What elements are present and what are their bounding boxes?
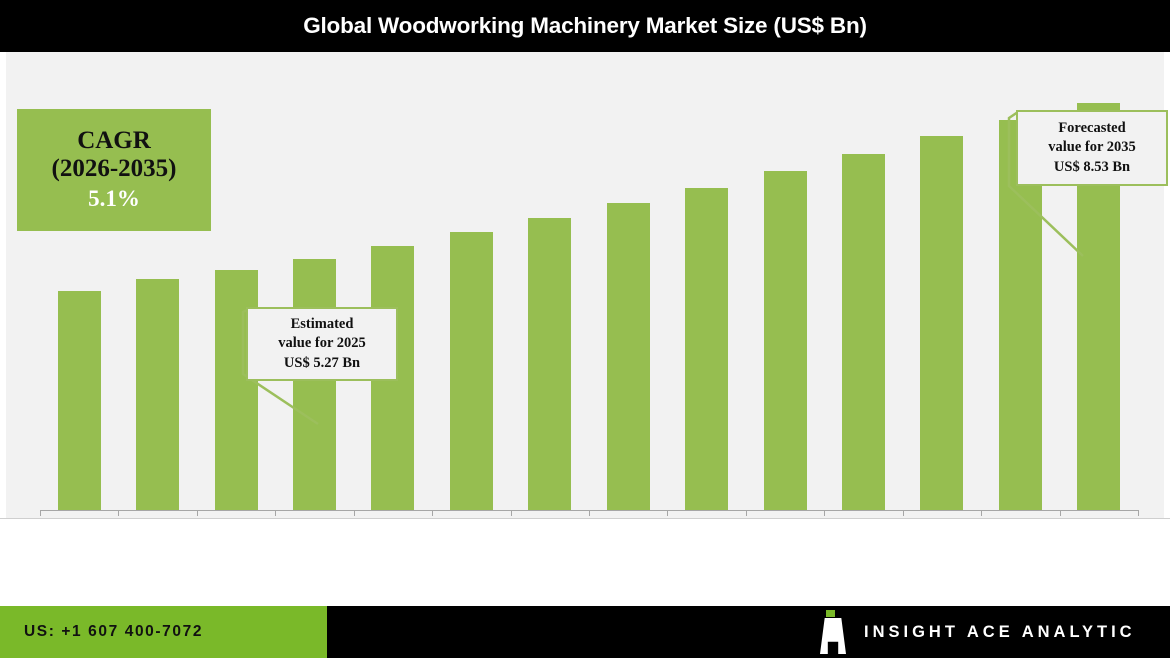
forecasted-line-1: Forecasted [1058,119,1125,138]
bar-2022A [58,291,101,510]
x-tick [589,510,590,516]
x-tick [746,510,747,516]
x-tick [903,510,904,516]
market-contributors-strip: Market Contributors: HOMAG scm group BIE… [0,518,1170,606]
chart-area: 2022 (A)2023 (A)2024 (A)2025 (E)2026 (F)… [6,52,1164,518]
x-tick [275,510,276,516]
cagr-value: 5.1% [88,185,140,213]
x-tick [40,510,41,516]
forecasted-line-2: value for 2035 [1048,138,1136,157]
bar-2024A [215,270,258,510]
infographic-page: Global Woodworking Machinery Market Size… [0,0,1170,658]
x-tick [432,510,433,516]
bar-2029F [607,203,650,510]
bar-2032F [842,154,885,510]
phone-band: US: +1 607 400-7072 [0,606,327,658]
forecasted-value-callout: Forecasted value for 2035 US$ 8.53 Bn [1016,110,1168,186]
bar-2027F [450,232,493,510]
estimated-line-2: value for 2025 [278,334,366,353]
forecasted-line-3: US$ 8.53 Bn [1054,158,1130,177]
bar-2033F [920,136,963,511]
insightace-logo-icon [820,610,846,654]
x-tick [824,510,825,516]
cagr-box: CAGR (2026-2035) 5.1% [17,109,211,231]
bar-2028F [528,218,571,510]
x-tick [118,510,119,516]
x-tick [667,510,668,516]
estimated-value-callout: Estimated value for 2025 US$ 5.27 Bn [246,307,398,381]
bar-2031F [764,171,807,510]
bar-2025E [293,259,336,510]
bar-2030F [685,188,728,511]
x-tick [354,510,355,516]
title-bar: Global Woodworking Machinery Market Size… [0,0,1170,52]
x-tick [511,510,512,516]
page-title: Global Woodworking Machinery Market Size… [303,13,867,39]
brand-name: INSIGHT ACE ANALYTIC [864,623,1136,642]
phone-number[interactable]: US: +1 607 400-7072 [24,623,203,641]
estimated-line-3: US$ 5.27 Bn [284,354,360,373]
x-tick [197,510,198,516]
x-tick [1060,510,1061,516]
cagr-title: CAGR [77,127,151,155]
footer-bar: US: +1 607 400-7072 INSIGHT ACE ANALYTIC [0,606,1170,658]
estimated-line-1: Estimated [291,315,354,334]
x-tick [1138,510,1139,516]
cagr-period: (2026-2035) [52,155,177,183]
x-tick [981,510,982,516]
brand-block: INSIGHT ACE ANALYTIC [820,606,1136,658]
bar-2023A [136,279,179,510]
